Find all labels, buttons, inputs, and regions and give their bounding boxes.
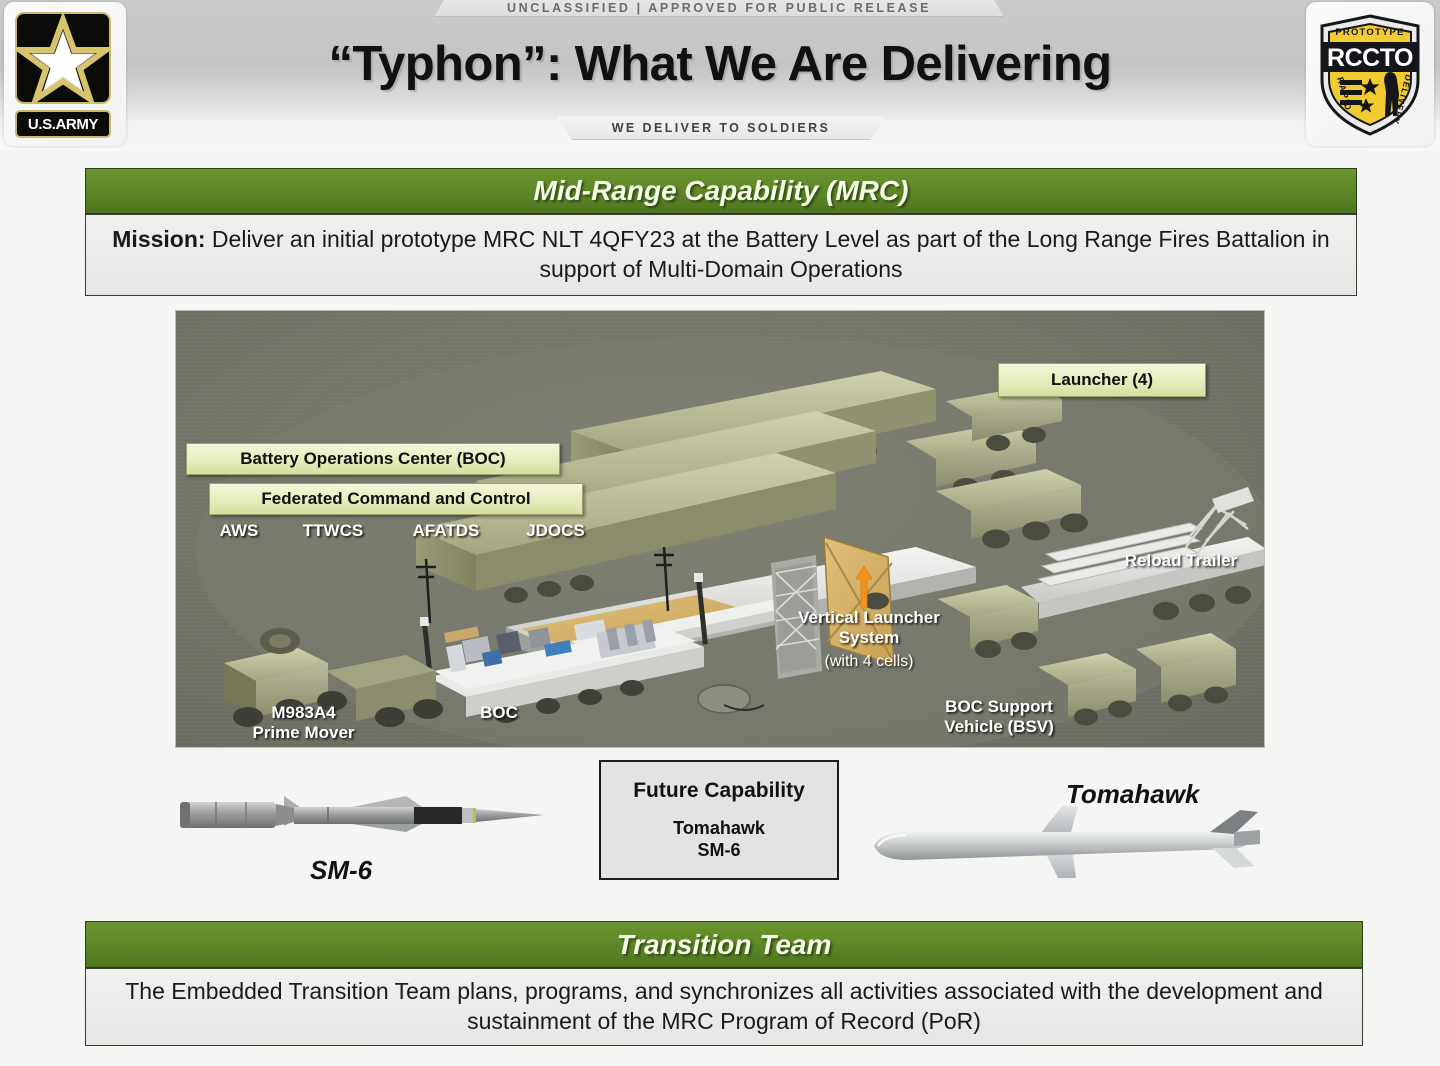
callout-federated-command-control[interactable]: Federated Command and Control [209,483,583,515]
mrc-battery-diagram: Battery Operations Center (BOC) Federate… [175,310,1265,748]
rccto-wordmark-text: RCCTO [1327,44,1413,72]
army-wordmark: U.S.ARMY [15,110,111,138]
c2-system-aws: AWS [204,521,274,541]
vls-pointer-arrow [856,566,872,608]
callout-launcher[interactable]: Launcher (4) [998,363,1206,397]
us-army-logo: U.S.ARMY [4,2,126,146]
c2-system-ttwcs: TTWCS [288,521,378,541]
transition-team-heading: Transition Team [85,921,1363,968]
callout-battery-operations-center[interactable]: Battery Operations Center (BOC) [186,443,560,475]
rccto-shield-icon: PROTOTYPE RCCTO RAPID DELIVERY [1306,2,1434,146]
mrc-heading-text: Mid-Range Capability (MRC) [534,175,909,207]
tomahawk-missile-illustration [862,800,1272,882]
transition-team-body: The Embedded Transition Team plans, prog… [86,977,1362,1037]
rccto-prototype-text: PROTOTYPE [1335,27,1404,38]
c2-system-jdocs: JDOCS [508,521,603,541]
mission-text: Mission: Deliver an initial prototype MR… [86,225,1356,285]
transition-team-panel: The Embedded Transition Team plans, prog… [85,968,1363,1046]
slide-header: UNCLASSIFIED | APPROVED FOR PUBLIC RELEA… [0,0,1440,150]
classification-text: UNCLASSIFIED | APPROVED FOR PUBLIC RELEA… [507,1,931,16]
rccto-logo: PROTOTYPE RCCTO RAPID DELIVERY [1306,2,1434,146]
label-vls-cells: (with 4 cells) [764,653,974,672]
future-capability-title: Future Capability [633,779,805,803]
label-boc: BOC [444,703,554,723]
army-star-icon [15,12,111,104]
transition-heading-text: Transition Team [617,929,832,961]
sm6-label: SM-6 [310,855,372,886]
slogan-text: WE DELIVER TO SOLDIERS [612,121,831,135]
future-capability-item-sm6: SM-6 [697,839,740,862]
mission-panel: Mission: Deliver an initial prototype MR… [85,214,1357,296]
c2-system-afatds: AFATDS [396,521,496,541]
mrc-section-heading: Mid-Range Capability (MRC) [85,168,1357,214]
label-prime-mover: M983A4 Prime Mover [216,703,391,743]
label-reload-trailer: Reload Trailer [1101,551,1261,571]
mission-body: Deliver an initial prototype MRC NLT 4QF… [206,226,1330,282]
label-vertical-launcher-system: Vertical Launcher System [764,608,974,648]
callout-launcher-label: Launcher (4) [1051,370,1153,390]
tomahawk-label: Tomahawk [1066,779,1199,810]
callout-boc-label: Battery Operations Center (BOC) [240,449,505,469]
slogan-banner: WE DELIVER TO SOLDIERS [556,116,886,140]
future-capability-box: Future Capability Tomahawk SM-6 [599,760,839,880]
callout-fc2-label: Federated Command and Control [261,489,530,509]
label-boc-support-vehicle: BOC Support Vehicle (BSV) [894,697,1104,737]
sm6-missile-illustration [176,782,556,850]
future-capability-item-tomahawk: Tomahawk [673,817,765,840]
army-wordmark-text: U.S.ARMY [28,116,98,133]
page-title: “Typhon”: What We Are Delivering [0,36,1440,92]
mission-label: Mission: [112,226,205,252]
classification-banner: UNCLASSIFIED | APPROVED FOR PUBLIC RELEA… [434,0,1004,17]
